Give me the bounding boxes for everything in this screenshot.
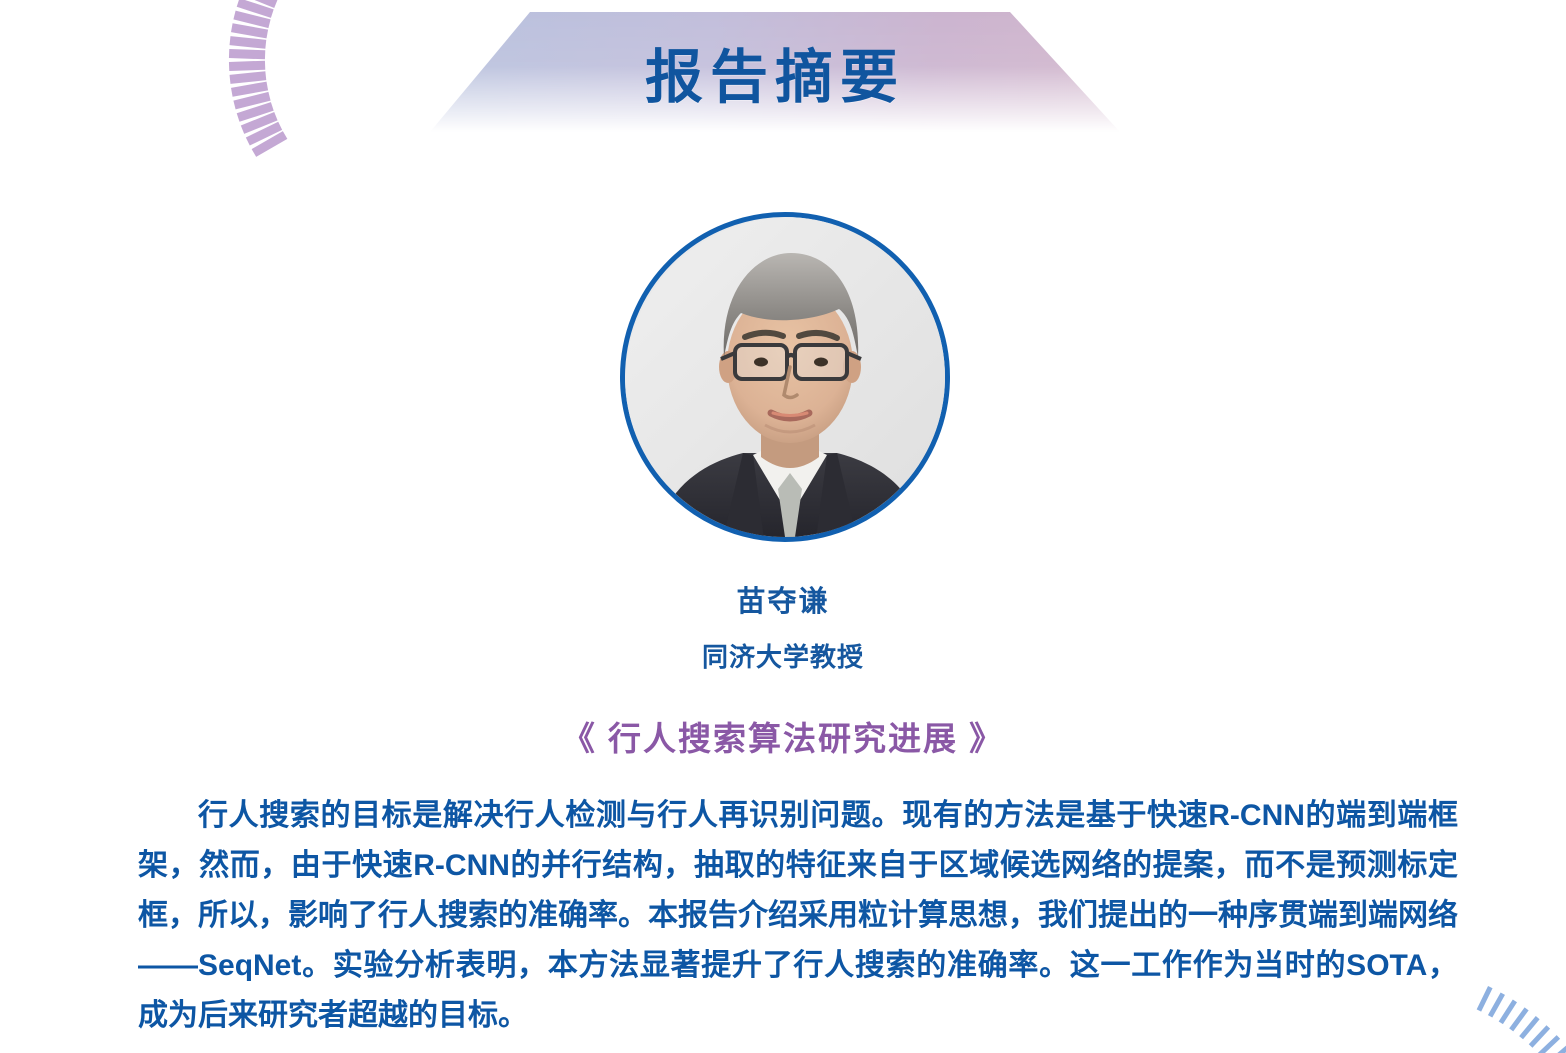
speaker-affiliation: 同济大学教授 bbox=[0, 637, 1566, 674]
speaker-name: 苗夺谦 bbox=[0, 578, 1566, 620]
abstract-paragraph: 行人搜索的目标是解决行人检测与行人再识别问题。现有的方法是基于快速R-CNN的端… bbox=[138, 791, 1458, 1041]
report-summary-page: 报告摘要 bbox=[0, 0, 1566, 1053]
page-title: 报告摘要 bbox=[430, 30, 1120, 114]
purple-dash-arc-decoration bbox=[0, 0, 380, 540]
talk-title: 《 行人搜索算法研究进展 》 bbox=[0, 712, 1566, 760]
portrait-photo bbox=[625, 217, 950, 542]
speaker-avatar bbox=[620, 212, 950, 542]
section-header-banner: 报告摘要 bbox=[430, 12, 1120, 132]
